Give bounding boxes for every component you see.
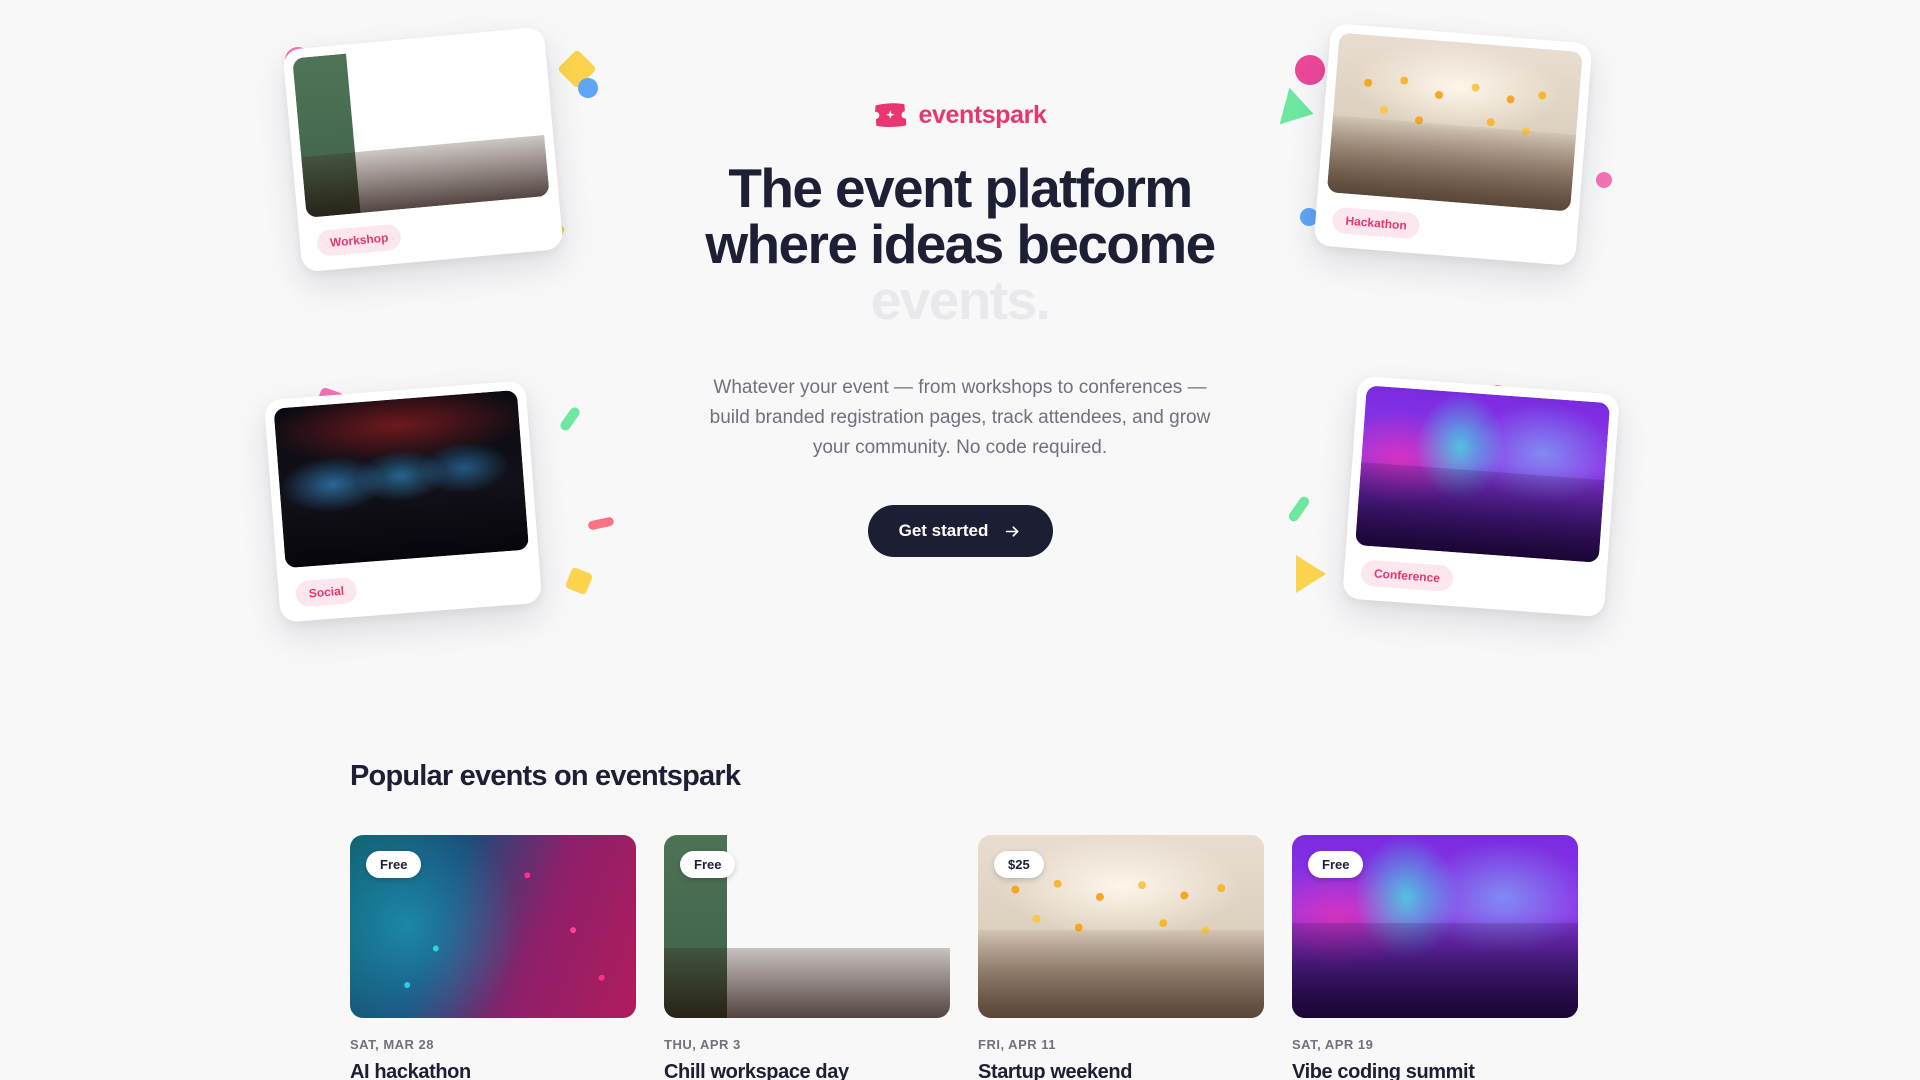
headline-line-1: The event platform bbox=[728, 157, 1191, 219]
landing-page: Workshop Hackathon Social bbox=[0, 0, 1920, 1080]
event-thumbnail: $25 bbox=[978, 835, 1264, 1018]
event-date: SAT, MAR 28 bbox=[350, 1037, 636, 1052]
hero-subtitle: Whatever your event — from workshops to … bbox=[705, 373, 1215, 463]
event-card[interactable]: Free SAT, APR 19 Vibe coding summit bbox=[1292, 835, 1578, 1080]
price-badge: Free bbox=[366, 851, 421, 878]
category-tag: Workshop bbox=[316, 223, 402, 257]
decor-yellow-triangle-bottomright bbox=[1296, 555, 1326, 593]
floating-card-photo bbox=[1355, 385, 1610, 562]
floating-card-conference[interactable]: Conference bbox=[1342, 376, 1620, 618]
floating-card-hackathon[interactable]: Hackathon bbox=[1313, 23, 1592, 266]
get-started-label: Get started bbox=[899, 521, 989, 541]
hero-content: eventspark The event platform where idea… bbox=[640, 95, 1280, 557]
event-thumbnail: Free bbox=[1292, 835, 1578, 1018]
headline-line-3: events. bbox=[871, 269, 1049, 331]
popular-events-section: Popular events on eventspark Free SAT, M… bbox=[0, 760, 1920, 1080]
event-card[interactable]: Free THU, APR 3 Chill workspace day bbox=[664, 835, 950, 1080]
event-date: THU, APR 3 bbox=[664, 1037, 950, 1052]
price-badge: $25 bbox=[994, 851, 1044, 878]
floating-card-photo bbox=[273, 390, 529, 568]
event-card[interactable]: $25 FRI, APR 11 Startup weekend bbox=[978, 835, 1264, 1080]
decor-green-triangle-topright bbox=[1280, 88, 1319, 132]
floating-card-workshop[interactable]: Workshop bbox=[282, 27, 563, 273]
event-date: SAT, APR 19 bbox=[1292, 1037, 1578, 1052]
event-title: Chill workspace day bbox=[664, 1061, 950, 1080]
price-badge: Free bbox=[1308, 851, 1363, 878]
event-title: AI hackathon bbox=[350, 1061, 636, 1080]
decor-green-dash-rightlow bbox=[1287, 495, 1311, 524]
get-started-button[interactable]: Get started bbox=[868, 505, 1053, 557]
event-thumbnail: Free bbox=[350, 835, 636, 1018]
decor-coral-dash-left bbox=[587, 516, 614, 530]
category-tag: Hackathon bbox=[1332, 207, 1421, 240]
floating-card-photo bbox=[1327, 33, 1583, 212]
category-tag: Conference bbox=[1360, 559, 1454, 592]
brand-name: eventspark bbox=[918, 101, 1046, 130]
event-date: FRI, APR 11 bbox=[978, 1037, 1264, 1052]
event-card[interactable]: Free SAT, MAR 28 AI hackathon bbox=[350, 835, 636, 1080]
brand-logo[interactable]: eventspark bbox=[640, 95, 1280, 135]
event-thumbnail: Free bbox=[664, 835, 950, 1018]
floating-card-social[interactable]: Social bbox=[264, 380, 542, 622]
decor-blue-circle-topleft bbox=[578, 78, 598, 98]
decor-yellow-square-bottomleft bbox=[565, 567, 594, 596]
event-card-grid: Free SAT, MAR 28 AI hackathon Free THU, … bbox=[350, 835, 1570, 1080]
decor-green-dash-left bbox=[558, 405, 581, 432]
event-title: Startup weekend bbox=[978, 1061, 1264, 1080]
section-title: Popular events on eventspark bbox=[350, 760, 1570, 793]
headline-line-2: where ideas become bbox=[705, 213, 1214, 275]
ticket-sparkle-icon bbox=[873, 102, 907, 128]
page-title: The event platform where ideas become ev… bbox=[640, 160, 1280, 328]
category-tag: Social bbox=[295, 577, 358, 608]
arrow-right-icon bbox=[1004, 523, 1021, 540]
hero-section: Workshop Hackathon Social bbox=[0, 0, 1920, 700]
price-badge: Free bbox=[680, 851, 735, 878]
event-title: Vibe coding summit bbox=[1292, 1061, 1578, 1080]
decor-pink-circle-topright bbox=[1295, 55, 1325, 85]
floating-card-photo bbox=[292, 36, 549, 217]
decor-pink-circle-right bbox=[1596, 172, 1612, 188]
